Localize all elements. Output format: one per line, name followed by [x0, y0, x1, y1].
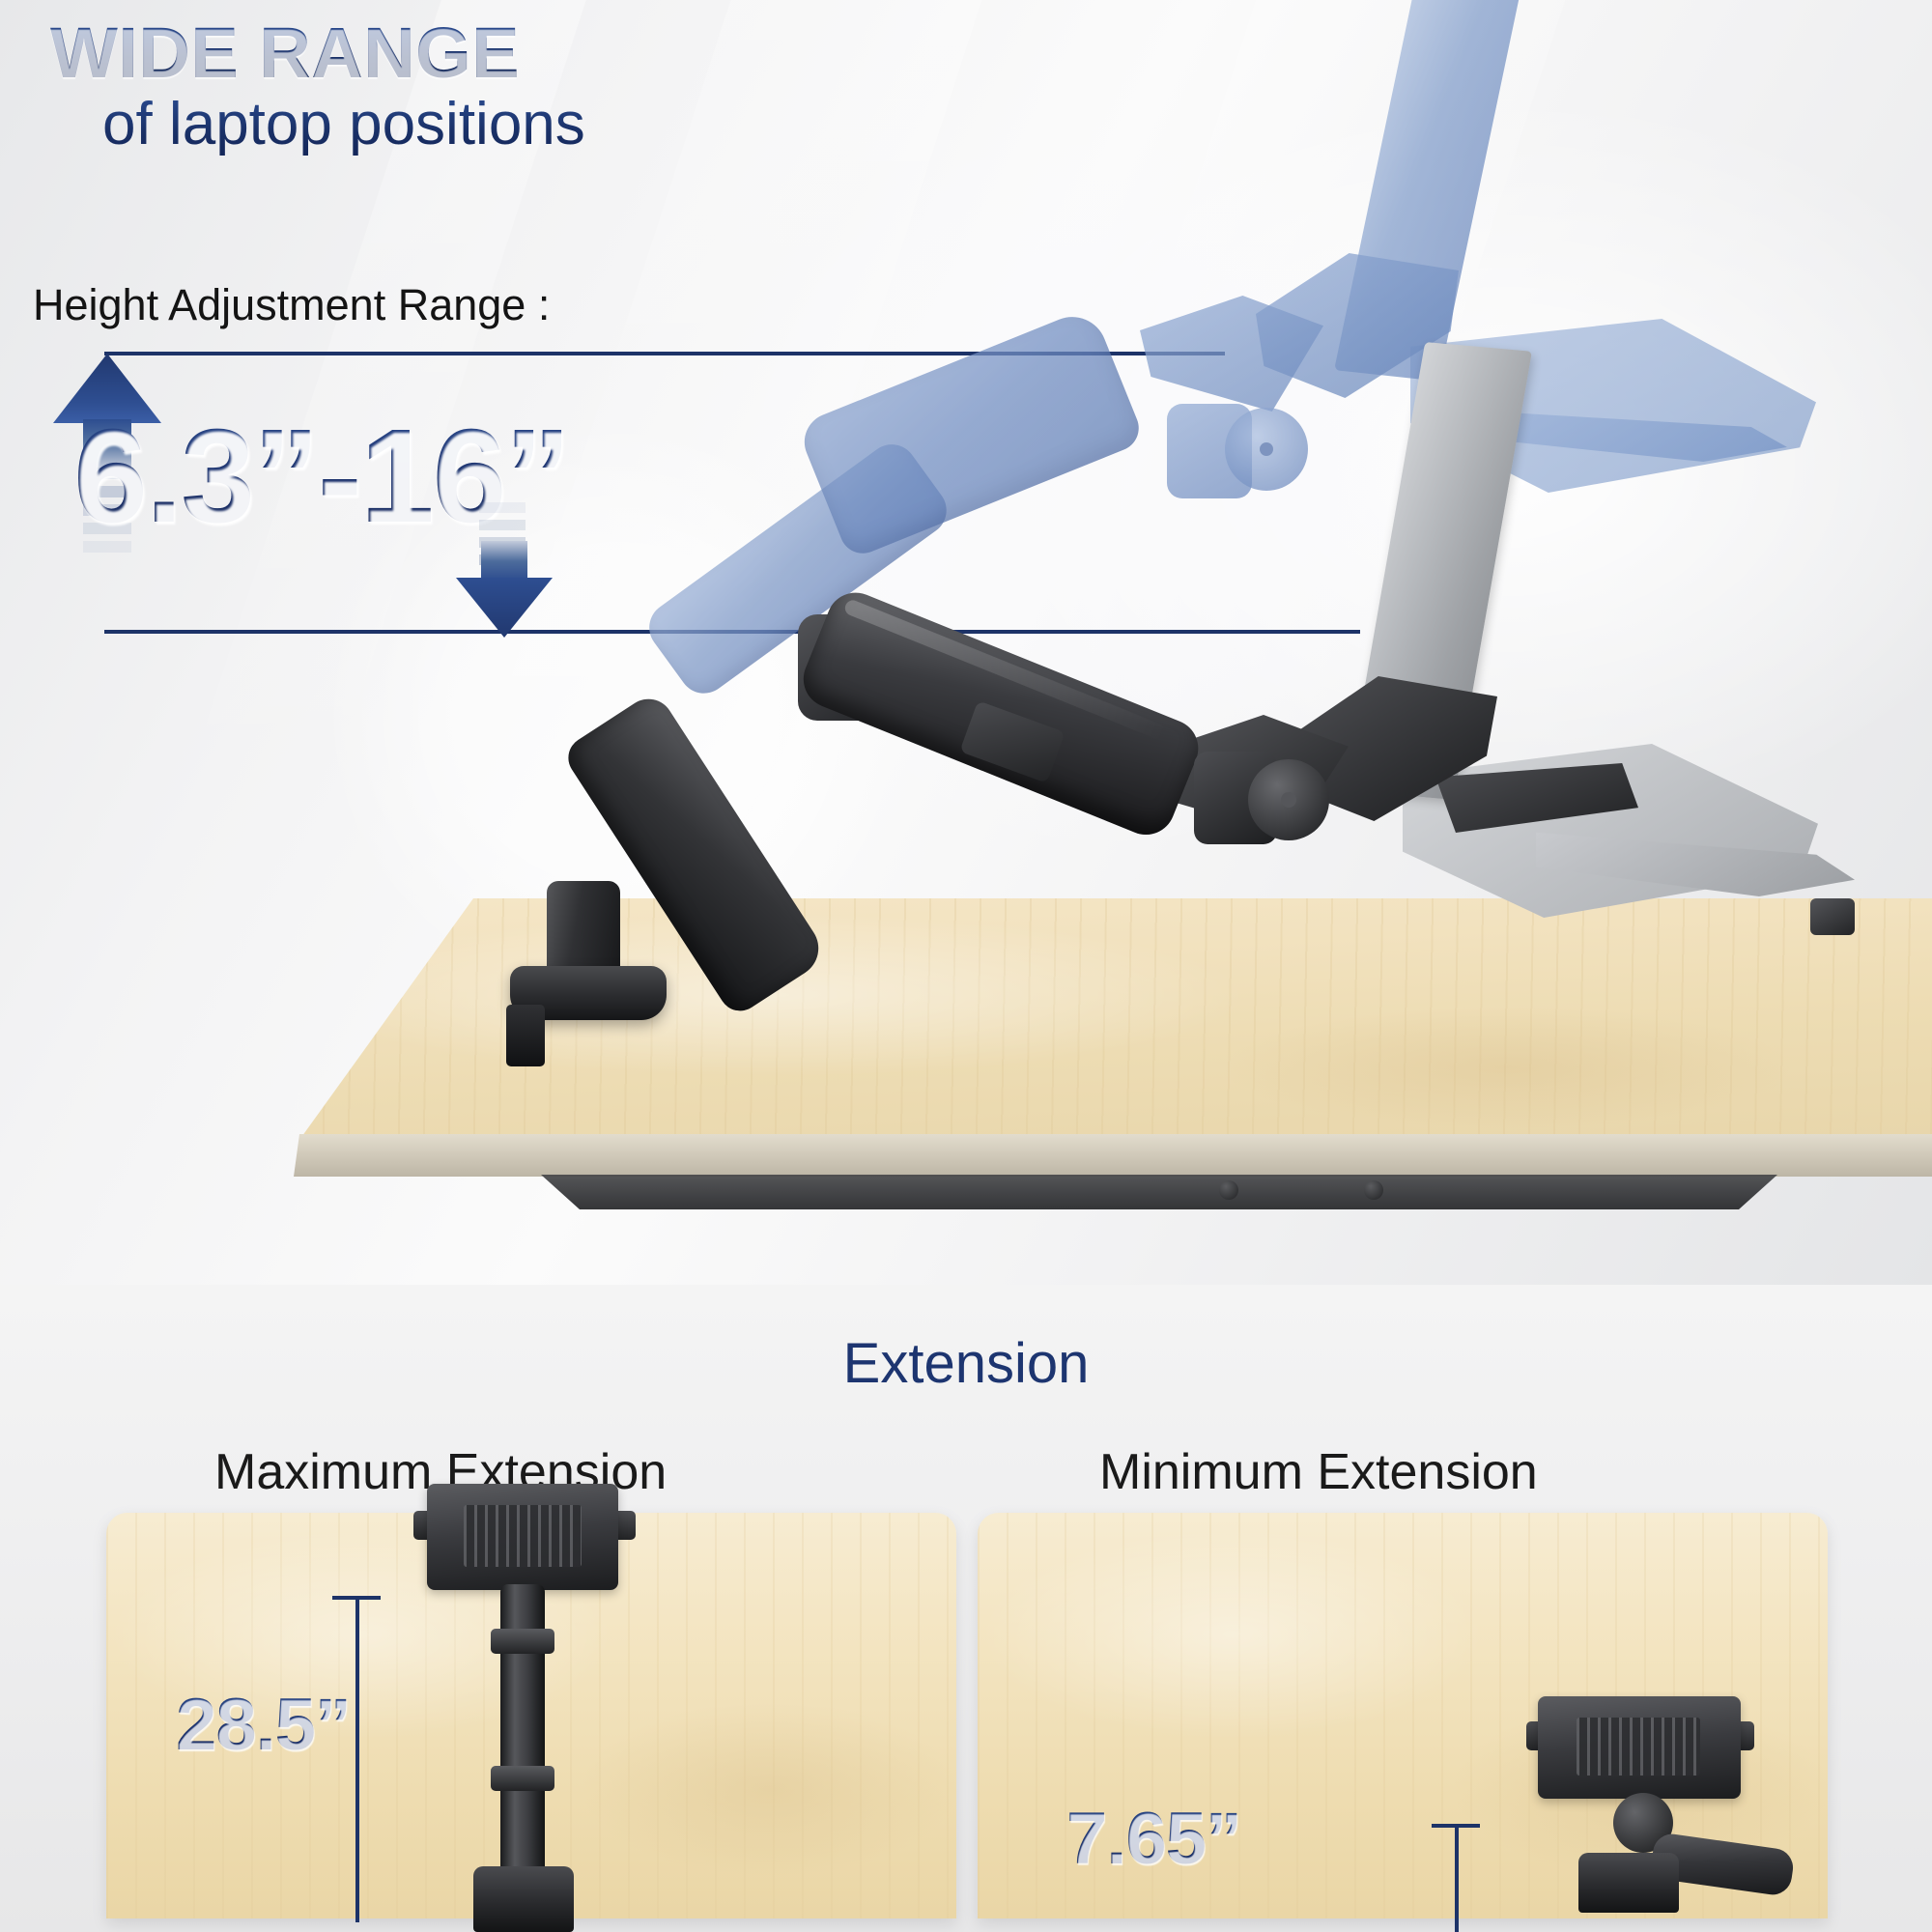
- down-arrow-head: [456, 578, 553, 638]
- desk-clamp: [506, 1005, 545, 1066]
- dash: [479, 520, 526, 530]
- min-measure-line: [1455, 1824, 1459, 1932]
- desk-screw-icon: [1219, 1180, 1238, 1200]
- down-arrow-shaft: [481, 541, 527, 582]
- mount-base: [473, 1866, 574, 1932]
- mount-base: [1578, 1853, 1679, 1913]
- desk: [0, 869, 1932, 1285]
- desk-surface: [0, 898, 1932, 1140]
- laptop-tray: [1538, 1696, 1741, 1799]
- extension-column: [500, 1584, 545, 1874]
- minimum-extension-value: 7.65”: [1066, 1797, 1241, 1881]
- ghost-arm-knuckle: [1225, 408, 1308, 491]
- page-title: WIDE RANGE: [50, 17, 958, 89]
- maximum-extension-value: 28.5”: [176, 1683, 351, 1767]
- desk-edge: [0, 1134, 1932, 1177]
- support-rail-cap: [1810, 898, 1855, 935]
- dash: [479, 502, 526, 513]
- desk-underside: [0, 1175, 1932, 1209]
- height-adjustment-label: Height Adjustment Range :: [33, 280, 550, 330]
- laptop-tray: [427, 1484, 618, 1590]
- desk-screw-icon: [1364, 1180, 1383, 1200]
- mount-min-extension-illustration: [1538, 1696, 1789, 1932]
- headline-block: WIDE RANGE of laptop positions: [50, 17, 958, 156]
- hero-panel: WIDE RANGE of laptop positions Height Ad…: [0, 0, 1932, 1285]
- column-collar: [491, 1629, 554, 1654]
- max-measure-line: [355, 1596, 359, 1922]
- extension-heading: Extension: [0, 1331, 1932, 1396]
- ghost-arm-segment-upper: [796, 306, 1146, 560]
- down-arrow-icon: [456, 541, 553, 636]
- minimum-extension-label: Minimum Extension: [1099, 1443, 1538, 1501]
- arm-knuckle: [1248, 759, 1329, 840]
- page-subtitle: of laptop positions: [102, 93, 958, 156]
- column-collar: [491, 1766, 554, 1791]
- mount-max-extension-illustration: [423, 1484, 626, 1932]
